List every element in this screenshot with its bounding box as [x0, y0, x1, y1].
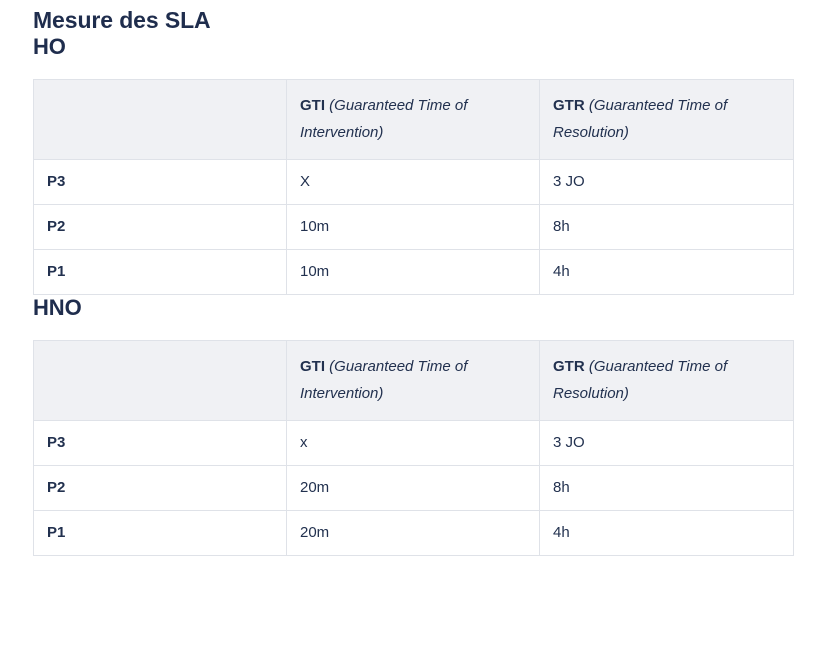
table-header-hno: GTI (Guaranteed Time of Intervention) GT…: [34, 341, 794, 421]
row-label-p1: P1: [34, 250, 287, 295]
gti-expansion: (Guaranteed Time of Intervention): [300, 358, 467, 402]
cell-gtr-p3: 3 JO: [540, 160, 794, 205]
gtr-abbr: GTR: [553, 358, 585, 375]
column-header-gtr: GTR (Guaranteed Time of Resolution): [540, 341, 794, 421]
column-header-empty: [34, 80, 287, 160]
gti-abbr: GTI: [300, 97, 325, 114]
gti-expansion: (Guaranteed Time of Intervention): [300, 97, 467, 141]
column-header-gti: GTI (Guaranteed Time of Intervention): [287, 80, 540, 160]
cell-gtr-p3: 3 JO: [540, 421, 794, 466]
section-title-hno: HNO: [33, 295, 792, 321]
cell-gtr-p2: 8h: [540, 205, 794, 250]
section-title-ho: HO: [33, 34, 792, 60]
row-label-p2: P2: [34, 205, 287, 250]
table-row: P2 20m 8h: [34, 466, 794, 511]
column-header-gti: GTI (Guaranteed Time of Intervention): [287, 341, 540, 421]
cell-gtr-p1: 4h: [540, 250, 794, 295]
cell-gti-p2: 20m: [287, 466, 540, 511]
table-header-ho: GTI (Guaranteed Time of Intervention) GT…: [34, 80, 794, 160]
cell-gti-p1: 20m: [287, 511, 540, 556]
cell-gti-p3: x: [287, 421, 540, 466]
gtr-abbr: GTR: [553, 97, 585, 114]
gti-abbr: GTI: [300, 358, 325, 375]
table-header-row: GTI (Guaranteed Time of Intervention) GT…: [34, 80, 794, 160]
row-label-p3: P3: [34, 160, 287, 205]
table-row: P1 10m 4h: [34, 250, 794, 295]
table-header-row: GTI (Guaranteed Time of Intervention) GT…: [34, 341, 794, 421]
cell-gtr-p2: 8h: [540, 466, 794, 511]
sla-table-hno: GTI (Guaranteed Time of Intervention) GT…: [33, 340, 794, 556]
table-row: P3 x 3 JO: [34, 421, 794, 466]
row-label-p1: P1: [34, 511, 287, 556]
cell-gti-p1: 10m: [287, 250, 540, 295]
table-row: P1 20m 4h: [34, 511, 794, 556]
cell-gti-p3: X: [287, 160, 540, 205]
column-header-empty: [34, 341, 287, 421]
page-title: Mesure des SLA: [33, 6, 792, 34]
cell-gti-p2: 10m: [287, 205, 540, 250]
table-body-ho: P3 X 3 JO P2 10m 8h P1 10m 4h: [34, 160, 794, 295]
table-row: P2 10m 8h: [34, 205, 794, 250]
row-label-p3: P3: [34, 421, 287, 466]
row-label-p2: P2: [34, 466, 287, 511]
column-header-gtr: GTR (Guaranteed Time of Resolution): [540, 80, 794, 160]
page-container: Mesure des SLA HO GTI (Guaranteed Time o…: [0, 6, 814, 556]
table-body-hno: P3 x 3 JO P2 20m 8h P1 20m 4h: [34, 421, 794, 556]
table-row: P3 X 3 JO: [34, 160, 794, 205]
cell-gtr-p1: 4h: [540, 511, 794, 556]
sla-table-ho: GTI (Guaranteed Time of Intervention) GT…: [33, 79, 794, 295]
